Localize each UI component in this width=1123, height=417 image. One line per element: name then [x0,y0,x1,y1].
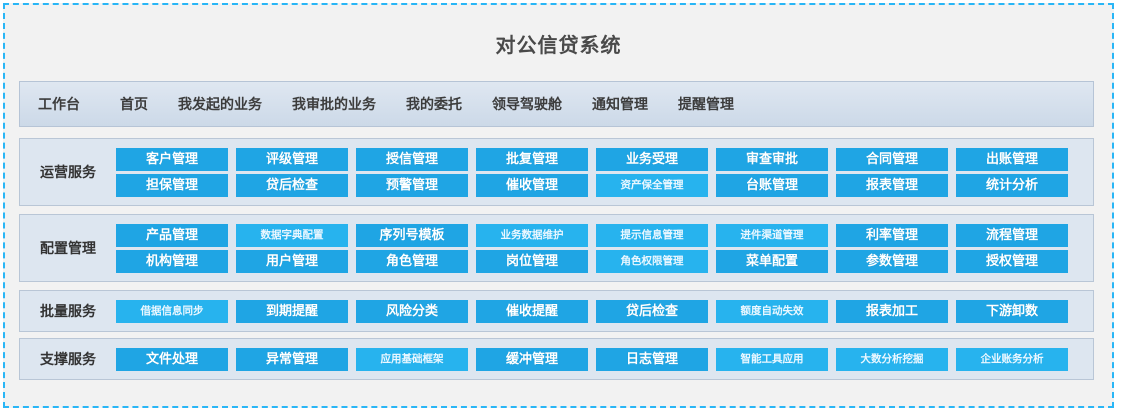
nav-item-2[interactable]: 我发起的业务 [178,94,262,114]
module-tile-1-1-7[interactable]: 授权管理 [956,250,1068,273]
module-tile-1-0-4[interactable]: 提示信息管理 [596,224,708,247]
tile-cell: 业务数据维护 [476,224,596,247]
module-tile-1-0-3[interactable]: 业务数据维护 [476,224,588,247]
module-tile-0-0-5[interactable]: 审查审批 [716,148,828,171]
section-tile-grid-2: 借据信息同步到期提醒风险分类催收提醒贷后检查额度自动失效报表加工下游卸数 [116,300,1093,323]
tile-cell: 批复管理 [476,148,596,171]
tile-cell: 提示信息管理 [596,224,716,247]
tile-cell: 数据字典配置 [236,224,356,247]
tile-cell: 报表管理 [836,174,956,197]
nav-item-3[interactable]: 我审批的业务 [292,94,376,114]
module-tile-3-0-7[interactable]: 企业账务分析 [956,348,1068,371]
module-tile-2-0-4[interactable]: 贷后检查 [596,300,708,323]
nav-item-6[interactable]: 通知管理 [592,94,648,114]
tile-cell: 授权管理 [956,250,1076,273]
tile-cell: 应用基础框架 [356,348,476,371]
tile-cell: 合同管理 [836,148,956,171]
module-tile-0-1-6[interactable]: 报表管理 [836,174,948,197]
tile-row: 借据信息同步到期提醒风险分类催收提醒贷后检查额度自动失效报表加工下游卸数 [116,300,1085,323]
application-frame: 对公信贷系统 工作台首页我发起的业务我审批的业务我的委托领导驾驶舱通知管理提醒管… [3,3,1114,408]
module-tile-2-0-7[interactable]: 下游卸数 [956,300,1068,323]
module-tile-1-1-1[interactable]: 用户管理 [236,250,348,273]
tile-cell: 利率管理 [836,224,956,247]
module-tile-1-1-0[interactable]: 机构管理 [116,250,228,273]
module-tile-3-0-4[interactable]: 日志管理 [596,348,708,371]
tile-cell: 审查审批 [716,148,836,171]
module-tile-2-0-3[interactable]: 催收提醒 [476,300,588,323]
tile-cell: 进件渠道管理 [716,224,836,247]
module-tile-0-1-7[interactable]: 统计分析 [956,174,1068,197]
tile-cell: 异常管理 [236,348,356,371]
tile-cell: 评级管理 [236,148,356,171]
tile-cell: 到期提醒 [236,300,356,323]
tile-cell: 用户管理 [236,250,356,273]
tile-cell: 催收提醒 [476,300,596,323]
module-tile-1-0-5[interactable]: 进件渠道管理 [716,224,828,247]
module-tile-2-0-1[interactable]: 到期提醒 [236,300,348,323]
module-tile-0-0-0[interactable]: 客户管理 [116,148,228,171]
section-panel-1: 配置管理产品管理数据字典配置序列号模板业务数据维护提示信息管理进件渠道管理利率管… [19,214,1094,282]
nav-item-0[interactable]: 工作台 [38,94,80,114]
section-panel-0: 运营服务客户管理评级管理授信管理批复管理业务受理审查审批合同管理出账管理担保管理… [19,138,1094,206]
tile-row: 机构管理用户管理角色管理岗位管理角色权限管理菜单配置参数管理授权管理 [116,250,1085,273]
module-tile-1-1-2[interactable]: 角色管理 [356,250,468,273]
module-tile-0-1-0[interactable]: 担保管理 [116,174,228,197]
module-tile-3-0-5[interactable]: 智能工具应用 [716,348,828,371]
module-tile-3-0-0[interactable]: 文件处理 [116,348,228,371]
nav-item-1[interactable]: 首页 [120,94,148,114]
module-tile-0-1-2[interactable]: 预警管理 [356,174,468,197]
tile-cell: 风险分类 [356,300,476,323]
tile-cell: 下游卸数 [956,300,1076,323]
section-label-1: 配置管理 [20,238,116,258]
tile-cell: 产品管理 [116,224,236,247]
tile-row: 客户管理评级管理授信管理批复管理业务受理审查审批合同管理出账管理 [116,148,1085,171]
module-tile-2-0-2[interactable]: 风险分类 [356,300,468,323]
tile-cell: 文件处理 [116,348,236,371]
tile-cell: 菜单配置 [716,250,836,273]
module-tile-3-0-2[interactable]: 应用基础框架 [356,348,468,371]
section-panel-3: 支撑服务文件处理异常管理应用基础框架缓冲管理日志管理智能工具应用大数分析挖掘企业… [19,338,1094,380]
tile-cell: 授信管理 [356,148,476,171]
module-tile-1-0-6[interactable]: 利率管理 [836,224,948,247]
tile-cell: 角色权限管理 [596,250,716,273]
tile-cell: 企业账务分析 [956,348,1076,371]
module-tile-1-1-3[interactable]: 岗位管理 [476,250,588,273]
module-tile-0-1-5[interactable]: 台账管理 [716,174,828,197]
module-tile-3-0-6[interactable]: 大数分析挖掘 [836,348,948,371]
tile-cell: 借据信息同步 [116,300,236,323]
section-tile-grid-0: 客户管理评级管理授信管理批复管理业务受理审查审批合同管理出账管理担保管理贷后检查… [116,148,1093,197]
module-tile-0-0-1[interactable]: 评级管理 [236,148,348,171]
module-tile-2-0-6[interactable]: 报表加工 [836,300,948,323]
tile-cell: 参数管理 [836,250,956,273]
tile-cell: 大数分析挖掘 [836,348,956,371]
module-tile-1-1-4[interactable]: 角色权限管理 [596,250,708,273]
section-label-3: 支撑服务 [20,349,116,369]
tile-cell: 缓冲管理 [476,348,596,371]
tile-cell: 序列号模板 [356,224,476,247]
section-label-0: 运营服务 [20,162,116,182]
module-tile-2-0-5[interactable]: 额度自动失效 [716,300,828,323]
tile-cell: 预警管理 [356,174,476,197]
module-tile-1-0-2[interactable]: 序列号模板 [356,224,468,247]
module-tile-1-1-5[interactable]: 菜单配置 [716,250,828,273]
tile-cell: 统计分析 [956,174,1076,197]
main-navigation-bar: 工作台首页我发起的业务我审批的业务我的委托领导驾驶舱通知管理提醒管理 [19,81,1094,127]
module-tile-0-0-4[interactable]: 业务受理 [596,148,708,171]
tile-row: 产品管理数据字典配置序列号模板业务数据维护提示信息管理进件渠道管理利率管理流程管… [116,224,1085,247]
module-tile-1-0-7[interactable]: 流程管理 [956,224,1068,247]
nav-item-5[interactable]: 领导驾驶舱 [492,94,562,114]
module-tile-2-0-0[interactable]: 借据信息同步 [116,300,228,323]
tile-cell: 贷后检查 [596,300,716,323]
tile-cell: 业务受理 [596,148,716,171]
tile-cell: 智能工具应用 [716,348,836,371]
tile-cell: 报表加工 [836,300,956,323]
tile-row: 文件处理异常管理应用基础框架缓冲管理日志管理智能工具应用大数分析挖掘企业账务分析 [116,348,1085,371]
module-tile-3-0-1[interactable]: 异常管理 [236,348,348,371]
tile-cell: 额度自动失效 [716,300,836,323]
tile-cell: 资产保全管理 [596,174,716,197]
tile-cell: 流程管理 [956,224,1076,247]
section-label-2: 批量服务 [20,301,116,321]
module-tile-0-0-3[interactable]: 批复管理 [476,148,588,171]
tile-cell: 担保管理 [116,174,236,197]
tile-cell: 日志管理 [596,348,716,371]
section-tile-grid-3: 文件处理异常管理应用基础框架缓冲管理日志管理智能工具应用大数分析挖掘企业账务分析 [116,348,1093,371]
module-tile-0-0-7[interactable]: 出账管理 [956,148,1068,171]
module-tile-0-0-6[interactable]: 合同管理 [836,148,948,171]
tile-cell: 台账管理 [716,174,836,197]
page-title: 对公信贷系统 [5,29,1112,58]
module-tile-1-1-6[interactable]: 参数管理 [836,250,948,273]
nav-item-7[interactable]: 提醒管理 [678,94,734,114]
tile-cell: 客户管理 [116,148,236,171]
tile-cell: 机构管理 [116,250,236,273]
tile-row: 担保管理贷后检查预警管理催收管理资产保全管理台账管理报表管理统计分析 [116,174,1085,197]
tile-cell: 催收管理 [476,174,596,197]
nav-item-4[interactable]: 我的委托 [406,94,462,114]
module-tile-3-0-3[interactable]: 缓冲管理 [476,348,588,371]
module-tile-0-1-1[interactable]: 贷后检查 [236,174,348,197]
section-tile-grid-1: 产品管理数据字典配置序列号模板业务数据维护提示信息管理进件渠道管理利率管理流程管… [116,224,1093,273]
module-tile-1-0-1[interactable]: 数据字典配置 [236,224,348,247]
tile-cell: 出账管理 [956,148,1076,171]
tile-cell: 贷后检查 [236,174,356,197]
tile-cell: 角色管理 [356,250,476,273]
tile-cell: 岗位管理 [476,250,596,273]
section-panel-2: 批量服务借据信息同步到期提醒风险分类催收提醒贷后检查额度自动失效报表加工下游卸数 [19,290,1094,332]
module-tile-0-1-4[interactable]: 资产保全管理 [596,174,708,197]
module-tile-0-1-3[interactable]: 催收管理 [476,174,588,197]
module-tile-0-0-2[interactable]: 授信管理 [356,148,468,171]
module-tile-1-0-0[interactable]: 产品管理 [116,224,228,247]
